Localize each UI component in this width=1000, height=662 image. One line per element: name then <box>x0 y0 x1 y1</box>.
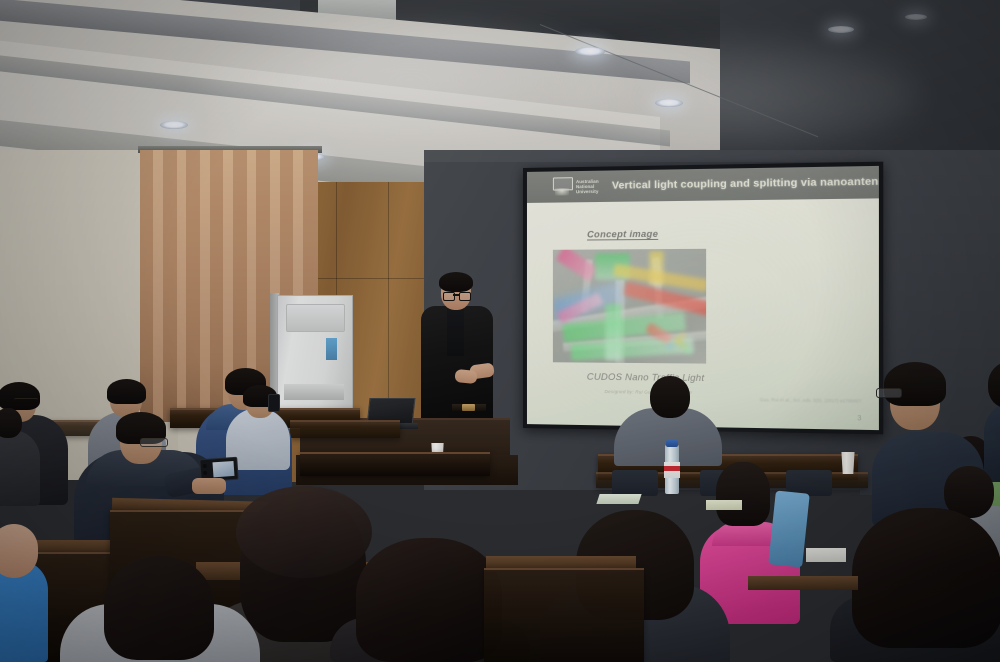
notepad-on-bench <box>706 500 742 510</box>
eyeglasses-icon <box>14 398 38 404</box>
bench-front-right <box>484 568 644 662</box>
anu-wordmark: Australian National University <box>576 178 599 194</box>
seat-back-1 <box>612 470 658 496</box>
presenter-hair <box>439 272 473 292</box>
water-bottle-cap <box>666 440 678 447</box>
recessed-downlight-5 <box>828 26 854 33</box>
ac-vent-grille <box>286 304 345 332</box>
recessed-downlight-3 <box>575 47 605 56</box>
anu-crest-icon <box>553 177 573 196</box>
concept-image-figure <box>553 249 706 364</box>
presenter-belt-buckle <box>462 404 475 411</box>
phone-screen-preview <box>212 461 234 477</box>
towel-on-seat <box>768 490 810 567</box>
photographer-hand <box>192 478 226 494</box>
recessed-downlight-4 <box>655 99 683 107</box>
projection-screen: Australian National University Vertical … <box>527 166 879 430</box>
eyeglasses-icon <box>876 388 902 398</box>
slide-heading: Concept image <box>587 229 658 240</box>
slide-number: 3 <box>857 415 861 422</box>
bench-row-mid-left <box>300 452 490 476</box>
paper-on-bench <box>596 494 641 504</box>
slide-title-bar: Australian National University Vertical … <box>527 166 879 203</box>
recessed-downlight-1 <box>160 121 188 129</box>
smartphone-held[interactable] <box>268 394 280 412</box>
slide-figure-caption: CUDOS Nano Traffic Light <box>549 370 744 383</box>
ac-control-panel <box>284 384 344 400</box>
water-bottle-label <box>664 462 680 478</box>
bench-desk-right-2 <box>748 576 858 590</box>
phone-camera-lens <box>203 464 207 468</box>
recessed-downlight-6 <box>905 14 927 20</box>
presenter-left-hand <box>454 369 477 384</box>
eyeglasses-icon <box>140 438 168 447</box>
presenter-shirt <box>447 308 464 356</box>
slide-citation: Guo, Rui et al., Sci. Adv. 3(5), (2017) … <box>760 397 862 404</box>
ceiling-reflection-sheen <box>200 20 620 140</box>
lecture-hall-photo: Australian National University Vertical … <box>0 0 1000 662</box>
slide-title: Vertical light coupling and splitting vi… <box>612 176 879 192</box>
projection-screen-frame: Australian National University Vertical … <box>523 162 883 435</box>
ac-energy-label <box>326 338 337 360</box>
bench-row-back-left2 <box>290 420 400 438</box>
phone-camera-lens-2 <box>203 471 207 475</box>
presenter-eyeglasses <box>443 292 469 299</box>
paper-stack <box>806 548 846 562</box>
ceiling-reflection-sheen-right <box>560 40 920 150</box>
hair-mass <box>236 486 372 578</box>
